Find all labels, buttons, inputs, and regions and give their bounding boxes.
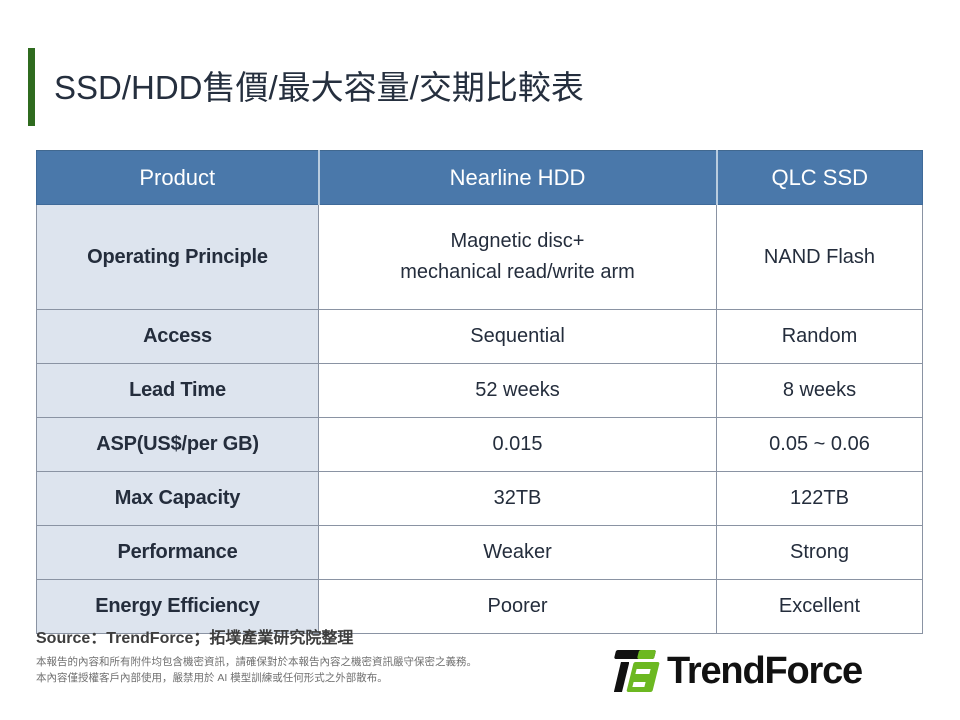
row-label-performance: Performance [37, 526, 319, 580]
cell-ssd-access: Random [717, 310, 923, 364]
source-line: Source：TrendForce；拓墣產業研究院整理 [36, 624, 353, 648]
table-row: Lead Time 52 weeks 8 weeks [37, 364, 923, 418]
trendforce-logo-icon [612, 648, 658, 694]
cell-ssd-lead-time: 8 weeks [717, 364, 923, 418]
cell-hdd-performance: Weaker [319, 526, 717, 580]
cell-hdd-access: Sequential [319, 310, 717, 364]
column-header-nearline-hdd: Nearline HDD [319, 151, 717, 205]
footer-logo-text: TrendForce [667, 652, 862, 690]
cell-line-2: mechanical read/write arm [320, 257, 715, 288]
cell-ssd-max-capacity: 122TB [717, 472, 923, 526]
title-accent-bar [28, 48, 35, 126]
cell-hdd-operating-principle: Magnetic disc+ mechanical read/write arm [319, 205, 717, 310]
table-row: Max Capacity 32TB 122TB [37, 472, 923, 526]
table-row: Performance Weaker Strong [37, 526, 923, 580]
slide-canvas: TrendForce SSD/HDD售價/最大容量/交期比較表 Product … [0, 0, 960, 720]
row-label-operating-principle: Operating Principle [37, 205, 319, 310]
cell-ssd-performance: Strong [717, 526, 923, 580]
comparison-table: Product Nearline HDD QLC SSD Operating P… [36, 150, 923, 634]
column-header-qlc-ssd: QLC SSD [717, 151, 923, 205]
table-row: Operating Principle Magnetic disc+ mecha… [37, 205, 923, 310]
table-row: ASP(US$/per GB) 0.015 0.05 ~ 0.06 [37, 418, 923, 472]
cell-line-1: Magnetic disc+ [320, 226, 715, 257]
table-header-row: Product Nearline HDD QLC SSD [37, 151, 923, 205]
disclaimer-line-2: 本內容僅授權客戶內部使用，嚴禁用於 AI 模型訓練或任何形式之外部散布。 [36, 670, 477, 686]
cell-hdd-asp: 0.015 [319, 418, 717, 472]
cell-hdd-energy-efficiency: Poorer [319, 580, 717, 634]
row-label-max-capacity: Max Capacity [37, 472, 319, 526]
cell-hdd-lead-time: 52 weeks [319, 364, 717, 418]
row-label-access: Access [37, 310, 319, 364]
row-label-lead-time: Lead Time [37, 364, 319, 418]
disclaimer-line-1: 本報告的內容和所有附件均包含機密資訊，請確保對於本報告內容之機密資訊嚴守保密之義… [36, 654, 477, 670]
trendforce-footer-logo: TrendForce [612, 648, 862, 694]
cell-ssd-asp: 0.05 ~ 0.06 [717, 418, 923, 472]
table-row: Access Sequential Random [37, 310, 923, 364]
page-title: SSD/HDD售價/最大容量/交期比較表 [54, 66, 894, 110]
row-label-asp: ASP(US$/per GB) [37, 418, 319, 472]
cell-ssd-energy-efficiency: Excellent [717, 580, 923, 634]
column-header-product: Product [37, 151, 319, 205]
cell-hdd-max-capacity: 32TB [319, 472, 717, 526]
cell-ssd-operating-principle: NAND Flash [717, 205, 923, 310]
disclaimer: 本報告的內容和所有附件均包含機密資訊，請確保對於本報告內容之機密資訊嚴守保密之義… [36, 654, 477, 686]
